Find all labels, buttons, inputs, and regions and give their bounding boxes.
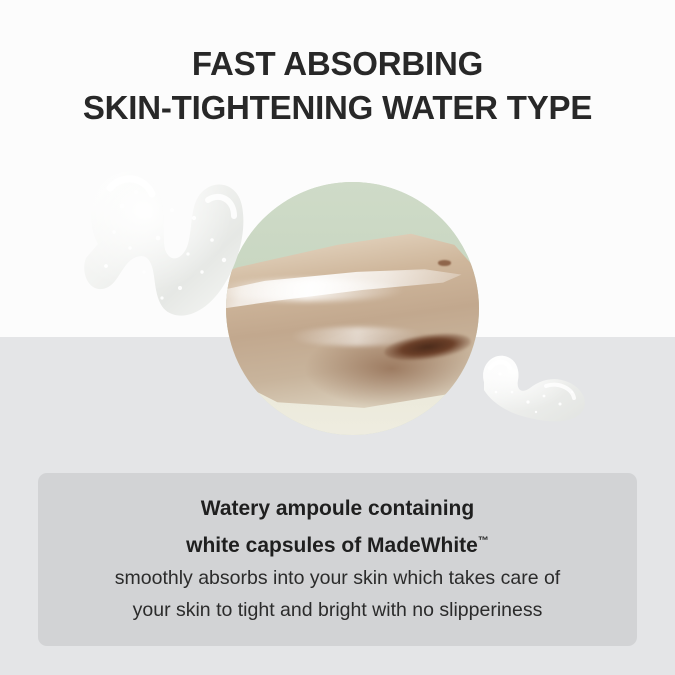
info-bold-line-2: white capsules of MadeWhite™ — [186, 525, 489, 562]
hand-sheen-secondary — [226, 279, 404, 301]
info-light-line-2: your skin to tight and bright with no sl… — [133, 594, 543, 626]
info-bold-line-1: Watery ampoule containing — [201, 493, 474, 525]
info-bold-line-2-text: white capsules of MadeWhite — [186, 534, 478, 557]
headline: FAST ABSORBING SKIN-TIGHTENING WATER TYP… — [0, 42, 675, 130]
headline-line-1: FAST ABSORBING — [0, 42, 675, 86]
trademark-symbol: ™ — [478, 535, 489, 547]
product-photo-circle — [226, 182, 479, 435]
info-card: Watery ampoule containing white capsules… — [38, 473, 637, 646]
promo-poster: FAST ABSORBING SKIN-TIGHTENING WATER TYP… — [0, 0, 675, 675]
info-light-line-1: smoothly absorbs into your skin which ta… — [115, 562, 560, 594]
hand-knuckle-shadow — [438, 260, 451, 266]
headline-line-2: SKIN-TIGHTENING WATER TYPE — [0, 86, 675, 130]
